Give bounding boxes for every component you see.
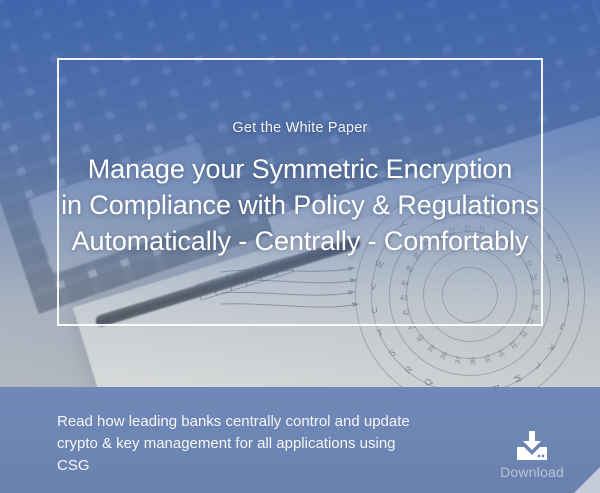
download-tray-icon[interactable] — [513, 430, 551, 462]
download-button[interactable]: Download — [489, 430, 575, 480]
eyebrow-text: Get the White Paper — [0, 120, 600, 136]
headline-line-1: Manage your Symmetric Encryption — [0, 152, 600, 188]
whitepaper-banner-ad[interactable]: ABCDEF ABCDEFGHIJKLMNOPQRSTUVWX — [0, 0, 600, 493]
download-label[interactable]: Download — [489, 464, 575, 480]
headline-line-3: Automatically - Centrally - Comfortably — [0, 224, 600, 260]
footer-bar: Read how leading banks centrally control… — [0, 387, 600, 493]
hero-copy: Get the White Paper Manage your Symmetri… — [0, 120, 600, 260]
footer-body-text: Read how leading banks centrally control… — [57, 411, 412, 476]
page-curl-corner — [574, 467, 600, 493]
headline-line-2: in Compliance with Policy & Regulations — [0, 188, 600, 224]
